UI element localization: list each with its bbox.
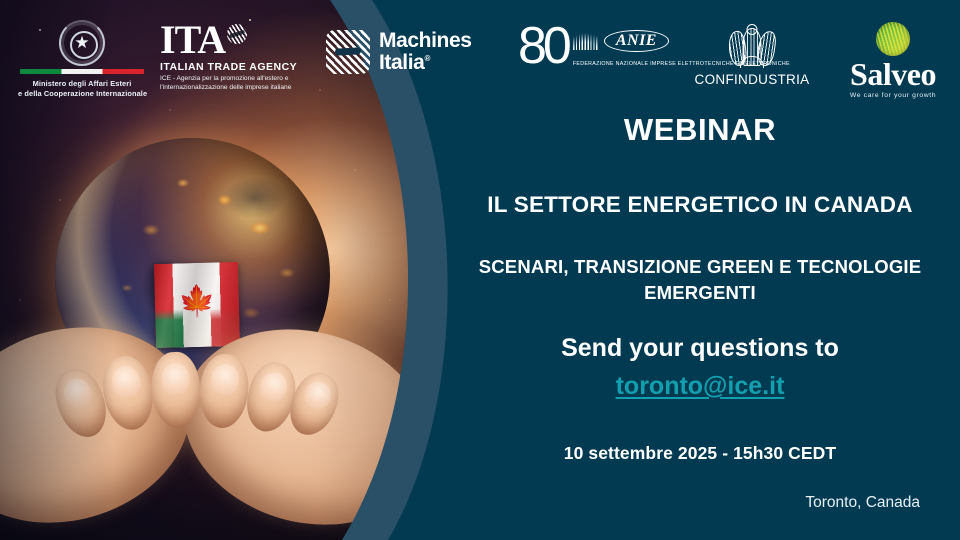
fingernail — [110, 364, 143, 399]
italian-tricolor-icon — [20, 69, 144, 74]
page-subtitle: SCENARI, TRANSIZIONE GREEN E TECNOLOGIE … — [460, 254, 940, 305]
email-line: toronto@ice.it — [460, 372, 940, 401]
machines-italia-logo: Machines Italia® — [326, 30, 472, 74]
contact-email-link[interactable]: toronto@ice.it — [616, 372, 785, 400]
anie-fan-icon — [573, 31, 599, 50]
fingernail — [60, 375, 95, 412]
flag-fold-shading — [154, 262, 240, 348]
ita-description: ICE - Agenzia per la promozione all'este… — [160, 75, 325, 93]
fingernail — [161, 362, 190, 395]
salveo-striped-sphere-icon — [876, 22, 910, 56]
webinar-slide: 🍁 WEBINAR IL SETTORE ENERGETICO IN CANAD… — [0, 0, 960, 540]
salveo-wordmark: Salveo — [834, 58, 952, 90]
anniversary-number: 80 — [518, 22, 568, 71]
ita-wordmark-row: ITA — [160, 22, 325, 59]
fingernail — [257, 369, 290, 404]
italian-trade-agency-logo: ITA ITALIAN TRADE AGENCY ICE - Agenzia p… — [160, 22, 325, 93]
machines-italia-line-2: Italia — [379, 51, 424, 74]
confindustria-wordmark: CONFINDUSTRIA — [686, 72, 818, 87]
canada-italy-flag-icon: 🍁 — [154, 262, 240, 348]
questions-prompt: Send your questions to — [460, 334, 940, 363]
salveo-logo: Salveo We care for your growth — [834, 22, 952, 99]
kicker-webinar: WEBINAR — [440, 112, 960, 148]
fingernail — [301, 378, 335, 412]
confindustria-eagle-icon — [729, 24, 775, 68]
ministry-line-1: Ministero degli Affari Esteri — [18, 79, 146, 89]
event-location: Toronto, Canada — [480, 494, 920, 512]
confindustria-logo: CONFINDUSTRIA — [686, 24, 818, 87]
ministry-line-2: e della Cooperazione Internazionale — [18, 89, 146, 99]
machines-italia-striped-disc-icon — [326, 30, 370, 74]
eagle-head — [747, 24, 758, 35]
salveo-tagline: We care for your growth — [834, 92, 952, 99]
ita-striped-circle-icon — [227, 24, 247, 44]
ministry-of-foreign-affairs-logo: ★ Ministero degli Affari Esteri e della … — [18, 20, 146, 99]
ita-subtitle: ITALIAN TRADE AGENCY — [160, 61, 325, 73]
machines-italia-line-1: Machines — [379, 29, 472, 52]
anie-wordmark: ANIE — [604, 30, 669, 52]
trademark-symbol: ® — [424, 54, 430, 63]
page-title: IL SETTORE ENERGETICO IN CANADA — [444, 192, 956, 218]
machines-italia-wordmark: Machines Italia® — [379, 30, 472, 73]
ita-wordmark: ITA — [160, 22, 225, 59]
fingernail — [210, 363, 240, 396]
italian-republic-emblem-icon: ★ — [59, 20, 105, 66]
event-datetime: 10 settembre 2025 - 15h30 CEDT — [460, 443, 940, 464]
sponsor-logo-bar: ★ Ministero degli Affari Esteri e della … — [0, 0, 960, 108]
star-icon: ★ — [74, 34, 89, 51]
